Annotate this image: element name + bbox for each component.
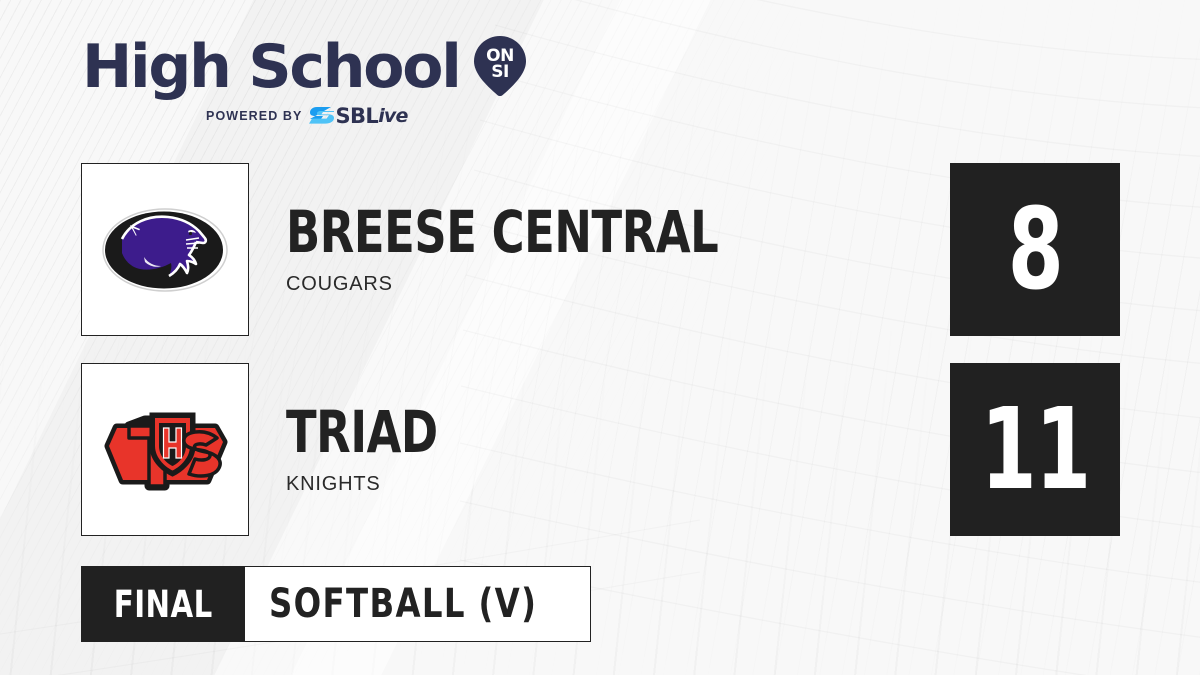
sport-label-box: SOFTBALL (V) (245, 566, 590, 642)
sblive-mark-icon (309, 106, 335, 126)
status-label: FINAL (114, 586, 213, 623)
team-info-home: TRIAD KNIGHTS (286, 363, 462, 536)
sblive-word: SBL (335, 104, 378, 128)
svg-text:SI: SI (491, 62, 509, 82)
brand-logo-row: High School ON SI (82, 36, 532, 98)
team-info-away: BREESE CENTRAL COUGARS (286, 163, 789, 336)
score-box-home: 11 (950, 363, 1120, 536)
team-name-home: TRIAD (286, 403, 438, 461)
score-box-away: 8 (950, 163, 1120, 336)
score-value-home: 11 (981, 394, 1090, 506)
score-value-away: 8 (1008, 194, 1062, 306)
game-status-bar: FINAL SOFTBALL (V) (81, 566, 591, 642)
sport-label: SOFTBALL (V) (269, 584, 537, 624)
status-badge: FINAL (81, 566, 245, 642)
team-name-away: BREESE CENTRAL (286, 203, 718, 261)
team-mascot-away: COUGARS (286, 273, 789, 296)
on-si-pin-icon: ON SI (468, 34, 532, 98)
brand-wordmark: High School (82, 38, 460, 96)
powered-by-label: POWERED BY (206, 109, 302, 123)
team-logo-tile-home (81, 363, 249, 536)
team-mascot-home: KNIGHTS (286, 473, 462, 496)
team-logo-tile-away (81, 163, 249, 336)
scoreboard-graphic: High School ON SI POWERED BY SBLive (0, 0, 1200, 675)
sblive-suffix: ive (378, 105, 407, 127)
cougar-head-logo-icon (100, 195, 230, 305)
brand-logo: High School ON SI POWERED BY SBLive (82, 36, 532, 128)
ths-shield-logo-icon (99, 402, 231, 498)
sblive-logo: SBLive (309, 104, 407, 128)
powered-by-row: POWERED BY SBLive (82, 104, 532, 128)
